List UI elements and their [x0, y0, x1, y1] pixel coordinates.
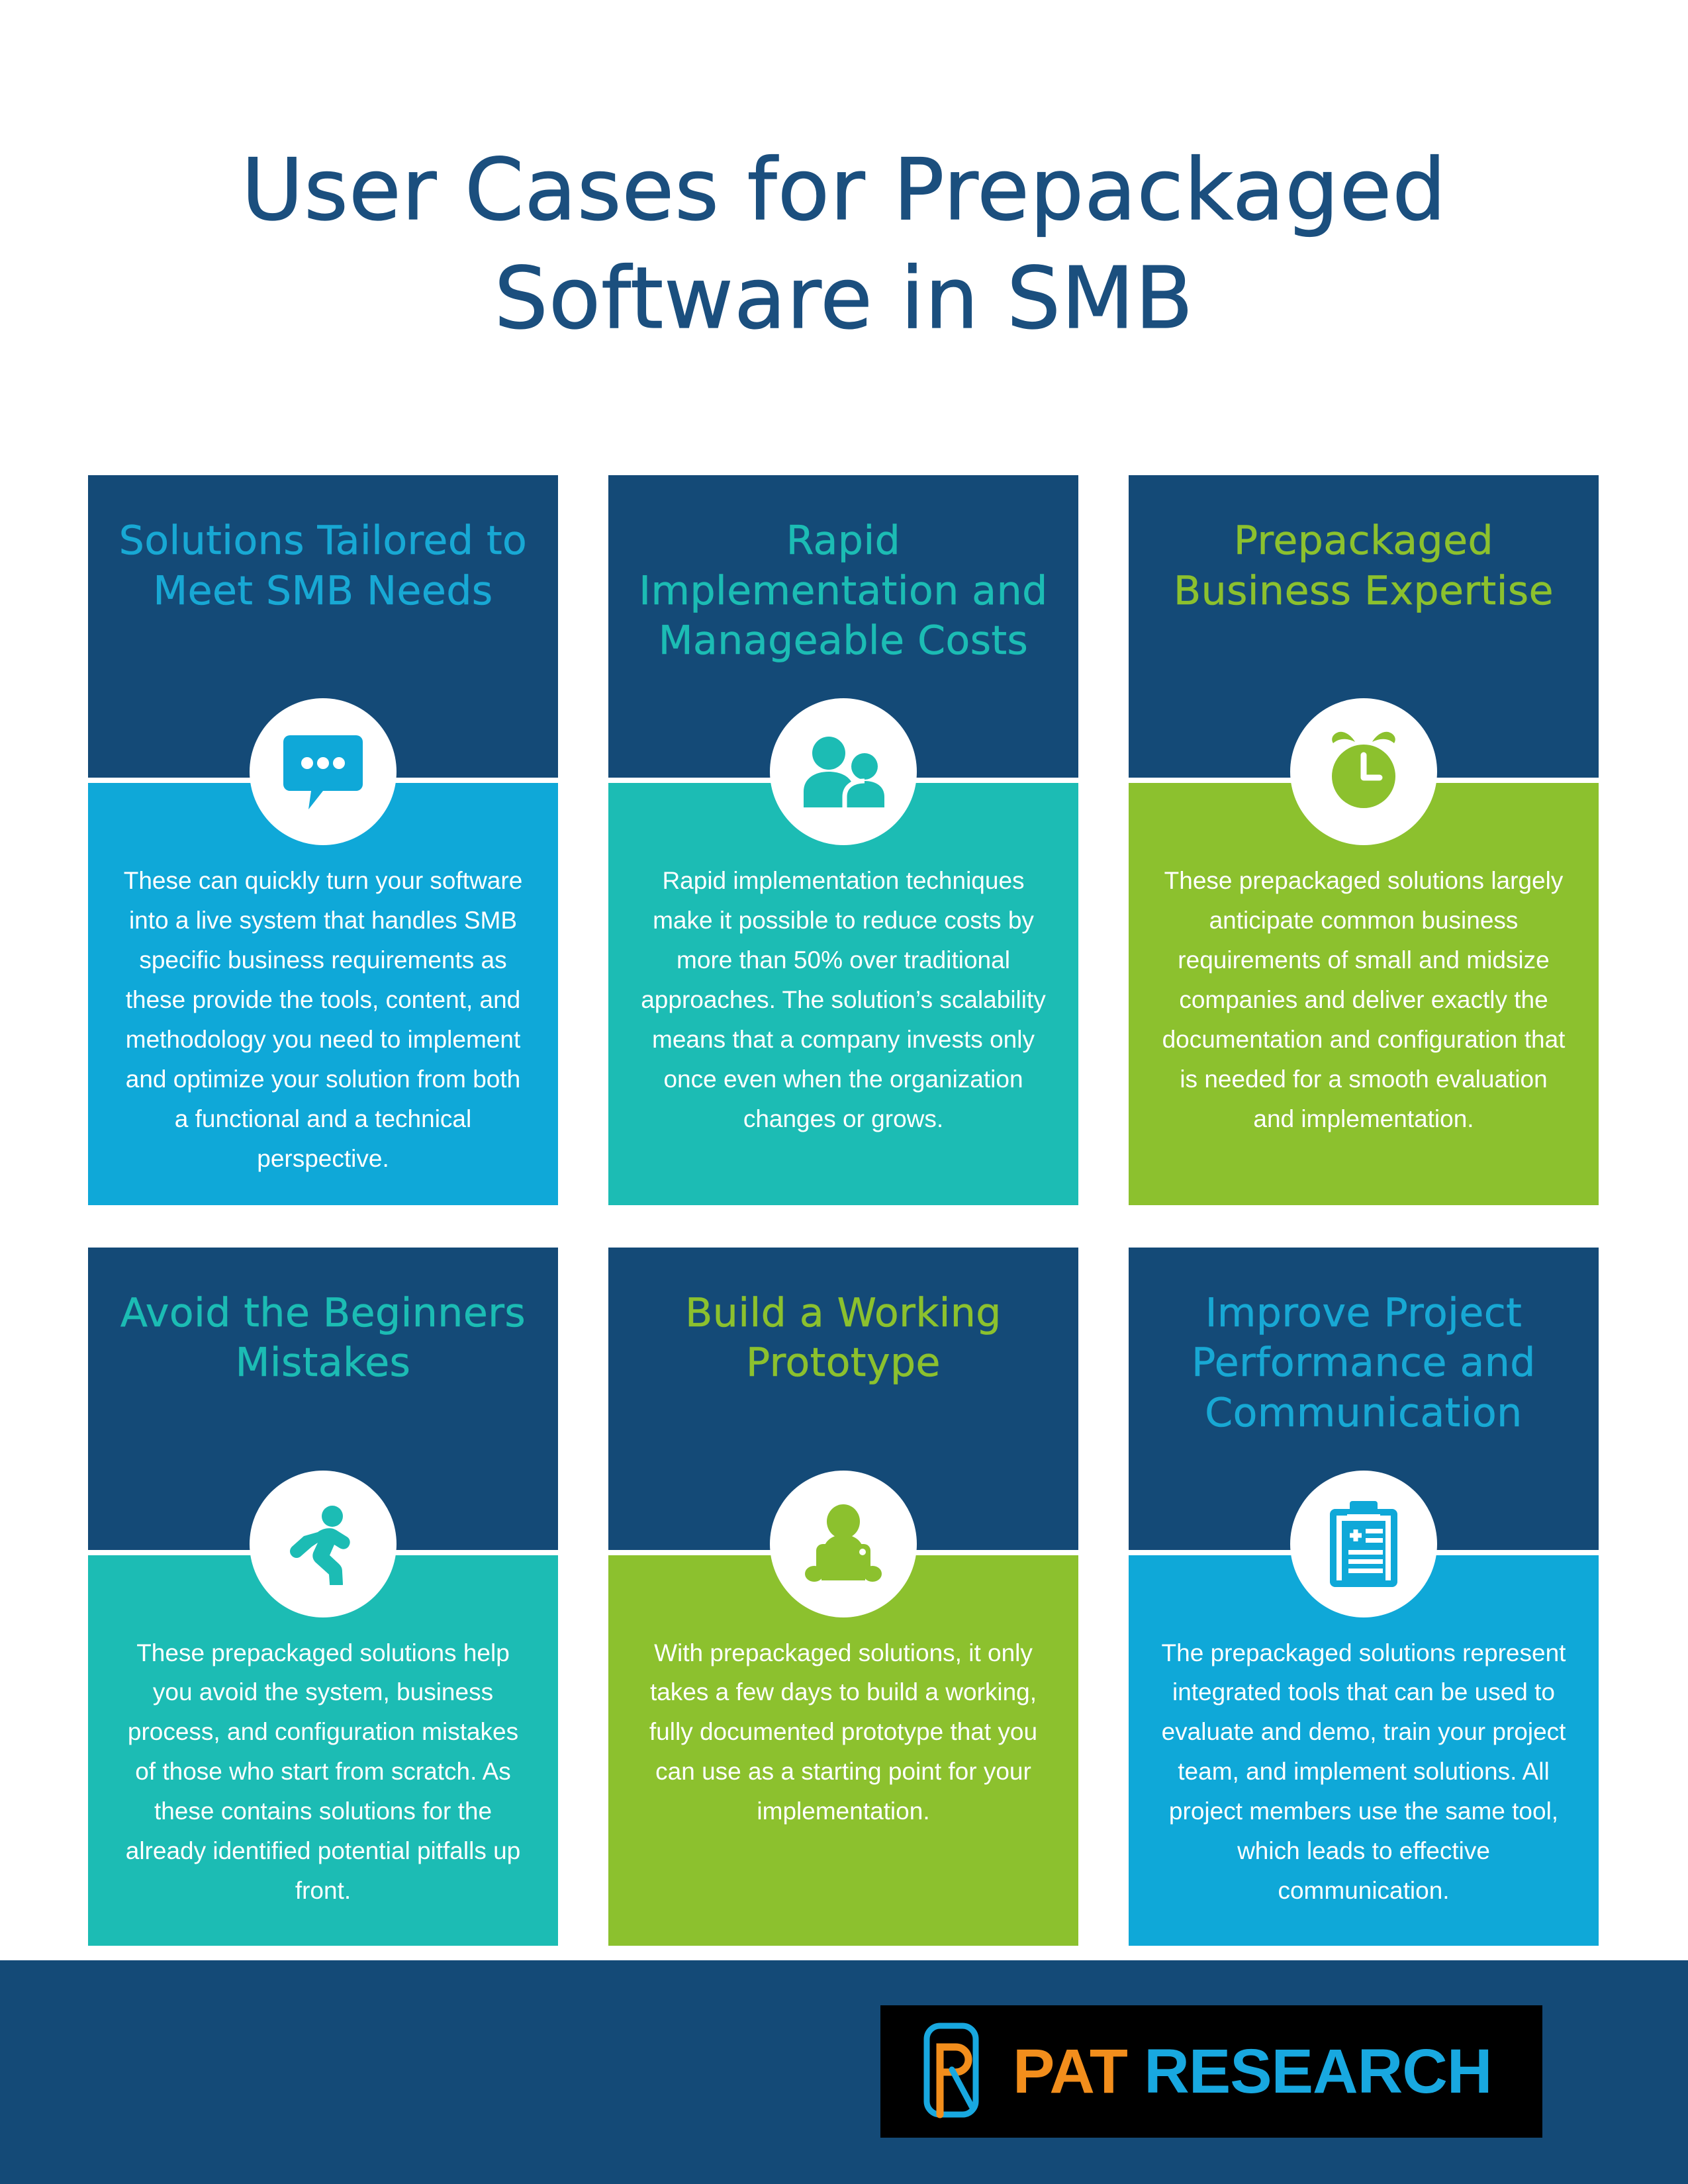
card-rapid-implementation[interactable]: Rapid Implementation and Manageable Cost…: [608, 475, 1078, 1205]
card-title: Build a Working Prototype: [631, 1289, 1056, 1388]
card-body: These prepackaged solutions largely anti…: [1129, 783, 1599, 1205]
card-title: Prepackaged Business Expertise: [1151, 516, 1576, 616]
running-person-icon: [250, 1471, 397, 1617]
card-improve-project-performance[interactable]: Improve Project Performance and Communic…: [1129, 1248, 1599, 1946]
person-laptop-icon: [770, 1471, 917, 1617]
card-solutions-tailored[interactable]: Solutions Tailored to Meet SMB Needs The…: [88, 475, 558, 1205]
pat-research-logo[interactable]: PAT RESEARCH: [880, 2005, 1542, 2138]
card-title: Improve Project Performance and Communic…: [1151, 1289, 1576, 1439]
card-header: Improve Project Performance and Communic…: [1129, 1248, 1599, 1550]
two-people-icon: [770, 698, 917, 845]
card-body: These can quickly turn your software int…: [88, 783, 558, 1205]
card-body: Rapid implementation techniques make it …: [608, 783, 1078, 1205]
card-build-working-prototype[interactable]: Build a Working Prototype With prepackag…: [608, 1248, 1078, 1946]
card-avoid-beginners-mistakes[interactable]: Avoid the Beginners Mistakes These prepa…: [88, 1248, 558, 1946]
speech-bubble-icon: [250, 698, 397, 845]
card-grid: Solutions Tailored to Meet SMB Needs The…: [88, 475, 1599, 1946]
logo-research-text: RESEARCH: [1127, 2036, 1492, 2107]
card-body-text: The prepackaged solutions represent inte…: [1159, 1633, 1568, 1911]
logo-pat-text: PAT: [1013, 2036, 1127, 2107]
card-title: Rapid Implementation and Manageable Cost…: [631, 516, 1056, 666]
page-title-line-1: User Cases for Prepackaged: [199, 136, 1489, 245]
clipboard-icon: [1290, 1471, 1437, 1617]
footer-bar: PAT RESEARCH: [0, 1960, 1688, 2184]
card-title: Avoid the Beginners Mistakes: [111, 1289, 536, 1388]
card-header: Build a Working Prototype: [608, 1248, 1078, 1550]
card-header: Avoid the Beginners Mistakes: [88, 1248, 558, 1550]
card-header: Prepackaged Business Expertise: [1129, 475, 1599, 778]
page-title-line-2: Software in SMB: [199, 245, 1489, 353]
card-header: Solutions Tailored to Meet SMB Needs: [88, 475, 558, 778]
pat-research-monogram-icon: [917, 2021, 1004, 2123]
card-body-text: With prepackaged solutions, it only take…: [639, 1633, 1048, 1832]
card-header: Rapid Implementation and Manageable Cost…: [608, 475, 1078, 778]
alarm-clock-icon: [1290, 698, 1437, 845]
card-body-text: These can quickly turn your software int…: [118, 861, 528, 1179]
card-body-text: These prepackaged solutions help you avo…: [118, 1633, 528, 1911]
card-body-text: Rapid implementation techniques make it …: [639, 861, 1048, 1139]
page-title: User Cases for Prepackaged Software in S…: [0, 136, 1688, 353]
card-body-text: These prepackaged solutions largely anti…: [1159, 861, 1568, 1139]
logo-wordmark: PAT RESEARCH: [1013, 2040, 1491, 2103]
card-prepackaged-business-expertise[interactable]: Prepackaged Business Expertise These pre…: [1129, 475, 1599, 1205]
card-title: Solutions Tailored to Meet SMB Needs: [111, 516, 536, 616]
